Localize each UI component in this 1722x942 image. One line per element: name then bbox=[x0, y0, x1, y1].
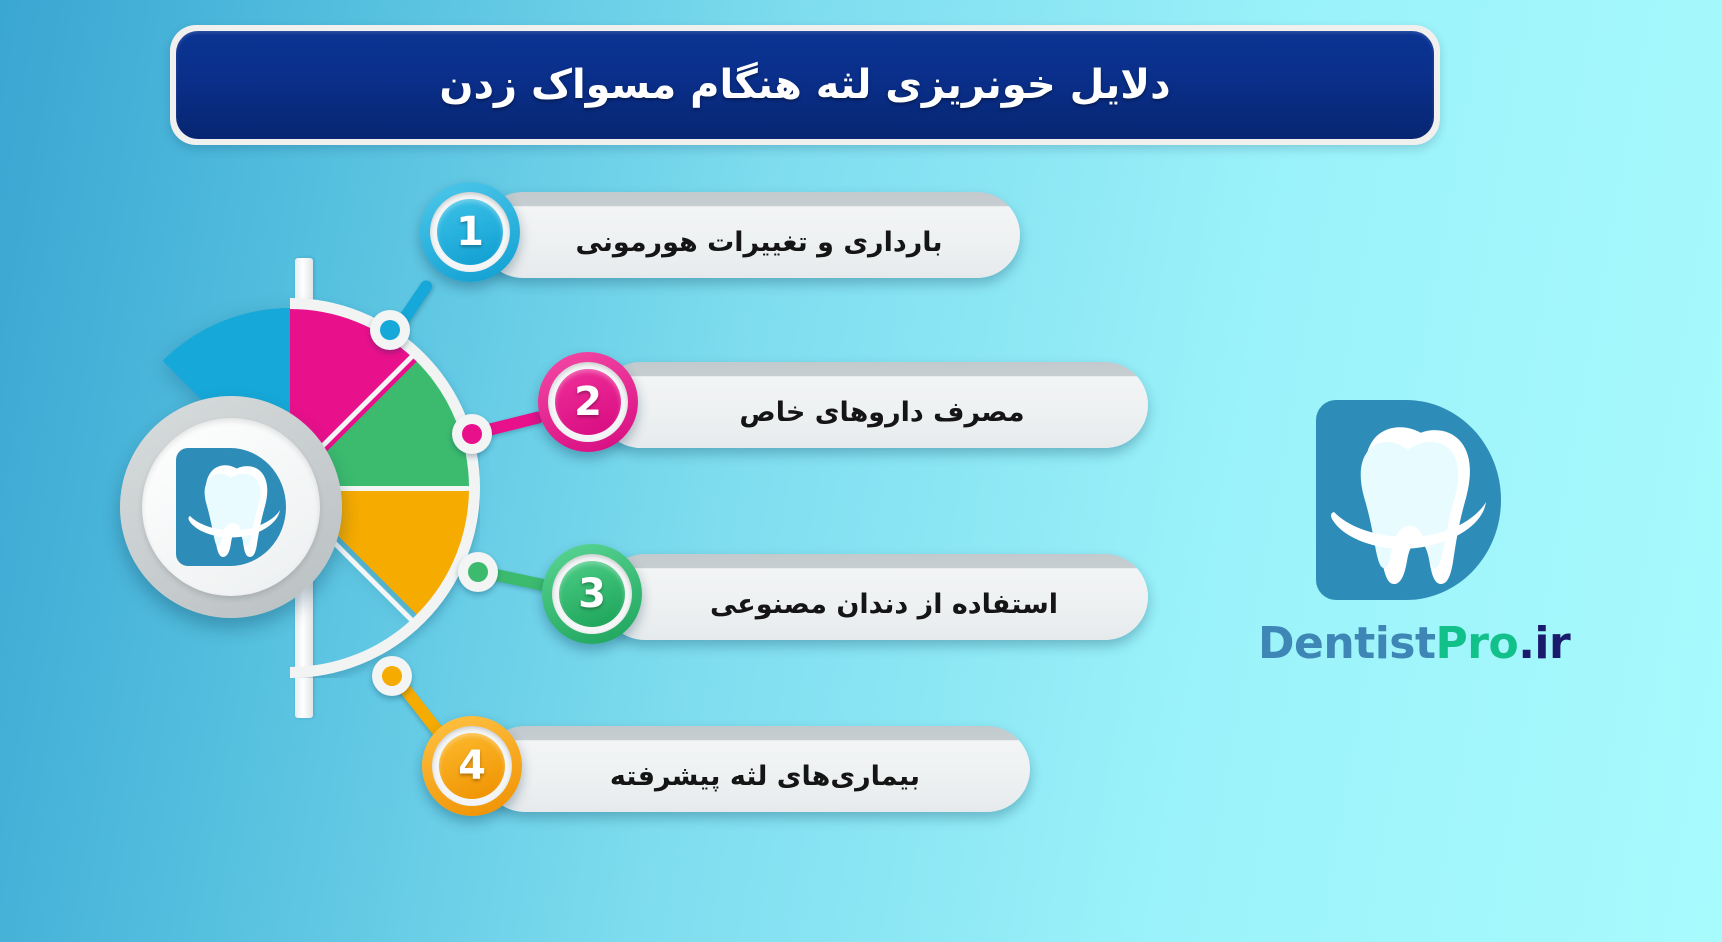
item-number: 1 bbox=[437, 199, 503, 265]
tooth-logo-icon bbox=[176, 448, 286, 566]
list-item[interactable]: بارداری و تغییرات هورمونی 1 bbox=[420, 182, 1020, 282]
list-item[interactable]: استفاده از دندان مصنوعی 3 bbox=[542, 544, 1148, 644]
brand-logo-block: DentistPro.ir bbox=[1258, 400, 1558, 669]
connector-node-2 bbox=[452, 414, 492, 454]
list-item[interactable]: مصرف داروهای خاص 2 bbox=[538, 352, 1148, 452]
item-label: بیماری‌های لثه پیشرفته bbox=[482, 747, 1030, 792]
item-label: مصرف داروهای خاص bbox=[598, 383, 1148, 428]
connector-node-1 bbox=[370, 310, 410, 350]
item-number-badge[interactable]: 4 bbox=[422, 716, 522, 816]
hub-badge bbox=[120, 396, 342, 618]
item-label: بارداری و تغییرات هورمونی bbox=[480, 213, 1020, 258]
page-title: دلایل خونریزی لثه هنگام مسواک زدن bbox=[439, 62, 1170, 108]
brand-name-part2: Pro bbox=[1436, 618, 1519, 669]
item-card[interactable]: استفاده از دندان مصنوعی bbox=[602, 554, 1148, 640]
connector-node-4 bbox=[372, 656, 412, 696]
item-card[interactable]: بیماری‌های لثه پیشرفته bbox=[482, 726, 1030, 812]
item-label: استفاده از دندان مصنوعی bbox=[602, 575, 1148, 620]
item-number-badge[interactable]: 3 bbox=[542, 544, 642, 644]
connector-node-3 bbox=[458, 552, 498, 592]
item-number: 3 bbox=[559, 561, 625, 627]
brand-name-part3: .ir bbox=[1518, 618, 1570, 669]
title-banner: دلایل خونریزی لثه هنگام مسواک زدن bbox=[170, 25, 1440, 145]
title-bar: دلایل خونریزی لثه هنگام مسواک زدن bbox=[176, 31, 1434, 139]
hub-wheel bbox=[196, 258, 516, 718]
tooth-logo-icon bbox=[1316, 400, 1501, 600]
list-item[interactable]: بیماری‌های لثه پیشرفته 4 bbox=[422, 716, 1030, 816]
item-card[interactable]: بارداری و تغییرات هورمونی bbox=[480, 192, 1020, 278]
brand-wordmark: DentistPro.ir bbox=[1258, 618, 1558, 669]
item-number-badge[interactable]: 1 bbox=[420, 182, 520, 282]
item-number: 2 bbox=[555, 369, 621, 435]
hub-badge-inner bbox=[142, 418, 320, 596]
item-number: 4 bbox=[439, 733, 505, 799]
item-card[interactable]: مصرف داروهای خاص bbox=[598, 362, 1148, 448]
brand-name-part1: Dentist bbox=[1258, 618, 1436, 669]
item-number-badge[interactable]: 2 bbox=[538, 352, 638, 452]
